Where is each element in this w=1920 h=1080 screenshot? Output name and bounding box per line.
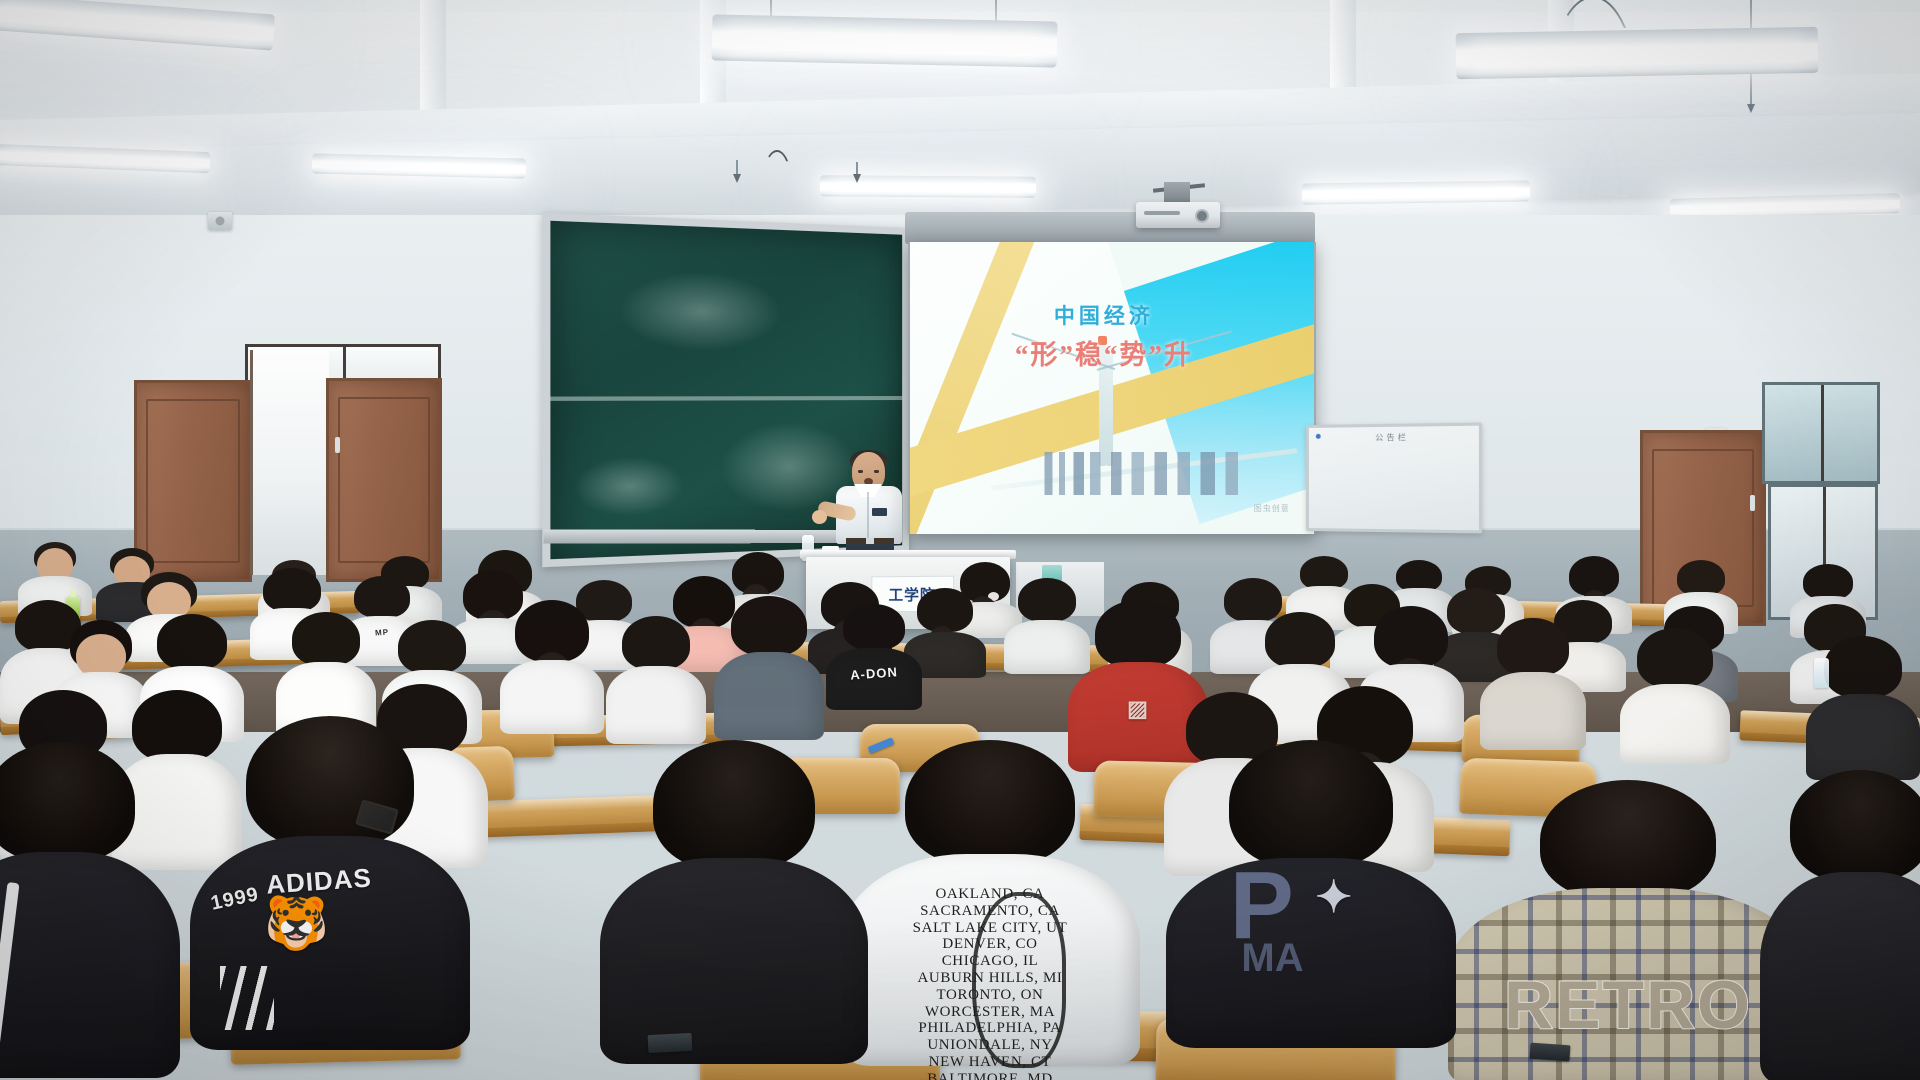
student: P ✦ MA <box>1166 740 1456 1040</box>
chalk-smudge <box>618 270 782 352</box>
hair <box>1229 740 1393 868</box>
torso <box>1806 694 1920 780</box>
projector-vent <box>1144 211 1180 215</box>
chalk-smudge <box>573 456 684 518</box>
hair <box>653 740 815 870</box>
student: ADIDAS 🐯 1999 <box>190 716 470 1046</box>
phone[interactable] <box>1529 1043 1570 1062</box>
ceiling-projector <box>1136 202 1220 228</box>
hair <box>157 614 227 670</box>
door-handle[interactable] <box>335 437 340 453</box>
student: A-DON <box>826 604 922 708</box>
light-tube <box>729 30 1040 56</box>
light-tube <box>1474 43 1800 68</box>
door-handle[interactable] <box>1750 495 1755 511</box>
ceiling-light <box>712 14 1058 67</box>
slide-subtitle: “形”稳“势”升 <box>910 333 1298 372</box>
hair <box>731 596 807 656</box>
slide-watermark: 图虫创意 <box>1254 503 1290 514</box>
hair <box>1637 628 1713 688</box>
torso <box>1760 872 1920 1080</box>
city-skyline <box>1036 452 1244 495</box>
presentation-slide: 中国经济 “形”稳“势”升 图虫创意 <box>910 242 1314 534</box>
light-tube <box>831 182 1025 192</box>
hair <box>1790 770 1920 882</box>
light-hanger <box>736 160 738 176</box>
window-right <box>1762 382 1880 484</box>
student: RETRO <box>1448 780 1808 1080</box>
student <box>1806 636 1920 776</box>
lecturer-mouth <box>864 478 873 485</box>
hair <box>622 616 690 670</box>
hair <box>905 740 1075 866</box>
light-tube <box>1313 188 1518 200</box>
hair <box>263 568 321 612</box>
open-doorway <box>250 350 329 575</box>
torso <box>1620 684 1730 764</box>
water-bottle <box>1814 658 1829 688</box>
torso <box>1166 858 1456 1048</box>
student <box>600 740 868 1060</box>
lecturer-badge <box>872 508 887 516</box>
student <box>500 600 604 730</box>
light-tube <box>323 160 516 173</box>
lecturer-shirt-placket <box>867 492 869 538</box>
whiteboard-label: 公告栏 <box>1375 432 1409 444</box>
shirt-brand-mark: RETRO <box>1504 966 1752 1044</box>
ceiling-light <box>1456 27 1819 79</box>
hair <box>1095 600 1181 668</box>
hair <box>1497 618 1569 676</box>
light-tube <box>1681 200 1888 213</box>
torso <box>606 666 706 744</box>
hair <box>1677 560 1725 596</box>
shirt-brand-secondary: MA <box>1241 936 1303 981</box>
lecturer-eye <box>858 470 863 473</box>
lecturer-eye <box>874 470 879 473</box>
hair <box>1803 564 1853 600</box>
torso <box>0 852 180 1078</box>
light-hanger <box>856 162 858 176</box>
lecturer-hand <box>812 510 827 524</box>
door-panel <box>338 397 430 563</box>
star-icon: ✦ <box>1315 872 1353 923</box>
light-tube <box>3 151 199 167</box>
projector-mount <box>1164 182 1190 204</box>
student <box>714 596 824 736</box>
student: OAKLAND, CA SACRAMENTO, CA SALT LAKE CIT… <box>840 740 1140 1060</box>
lecture-hall-photo: 中国经济 “形”稳“势”升 图虫创意 公告栏 <box>0 0 1920 1080</box>
wall-speaker <box>208 212 232 230</box>
student <box>1620 628 1730 760</box>
hair <box>1265 612 1335 668</box>
shirt-graphic: ▨ <box>1127 696 1149 722</box>
tiger-head-icon: 🐯 <box>264 898 329 950</box>
projector-lens <box>1195 209 1209 223</box>
lecturer-belt-buckle <box>866 538 874 544</box>
door-left-inner <box>326 378 442 582</box>
hair <box>1824 636 1902 698</box>
student <box>1480 618 1586 746</box>
hair <box>917 588 973 632</box>
projection-screen-housing <box>905 212 1315 244</box>
torso <box>714 652 824 740</box>
hair <box>1540 780 1716 900</box>
hair <box>843 604 905 650</box>
student <box>1760 770 1920 1080</box>
student <box>0 742 180 1072</box>
ceiling-beam <box>0 0 1920 12</box>
hair <box>292 612 360 666</box>
shirt-map-outline <box>972 892 1066 1068</box>
torso <box>1480 672 1586 750</box>
torso <box>500 660 604 734</box>
notice-whiteboard: 公告栏 <box>1306 423 1482 534</box>
hair <box>398 620 466 674</box>
slide-title: 中国经济 <box>910 300 1298 330</box>
ceiling-light <box>1302 180 1530 204</box>
lecturer <box>832 452 908 564</box>
projection-screen: 中国经济 “形”稳“势”升 图虫创意 <box>908 242 1316 534</box>
door-panel <box>146 399 240 563</box>
hair <box>0 742 135 862</box>
whiteboard-magnet <box>1316 434 1321 439</box>
phone[interactable] <box>648 1033 693 1053</box>
adidas-stripes <box>220 966 274 1030</box>
student <box>606 616 706 740</box>
torso <box>600 858 868 1064</box>
